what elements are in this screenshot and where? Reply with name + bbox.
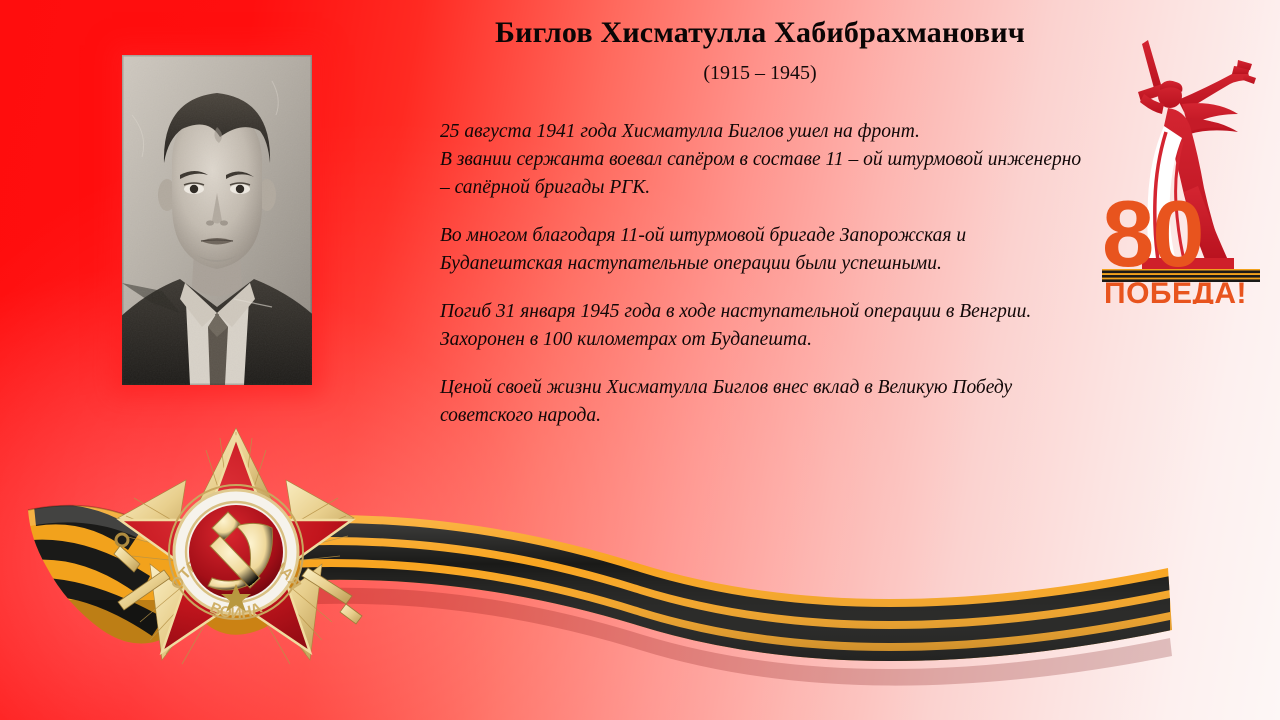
biography-paragraph-3: Погиб 31 января 1945 года в ходе наступа… bbox=[440, 298, 1088, 354]
portrait-illustration bbox=[122, 55, 312, 385]
page-title: Биглов Хисматулла Хабибрахманович bbox=[430, 16, 1090, 50]
life-years: (1915 – 1945) bbox=[430, 62, 1090, 85]
memorial-poster: Биглов Хисматулла Хабибрахманович (1915 … bbox=[0, 0, 1280, 720]
victory-80-logo: 80 ПОБЕДА! bbox=[1098, 22, 1274, 304]
order-medal-graphic: ОТЕЧЕСТВЕННАЯ ВОЙНА bbox=[100, 418, 372, 686]
biography-paragraph-4: Ценой своей жизни Хисматулла Биглов внес… bbox=[440, 374, 1088, 430]
biography-text: 25 августа 1941 года Хисматулла Биглов у… bbox=[440, 118, 1088, 430]
biography-paragraph-2: Во многом благодаря 11-ой штурмовой бриг… bbox=[440, 222, 1088, 278]
order-of-patriotic-war-medal: ОТЕЧЕСТВЕННАЯ ВОЙНА bbox=[100, 418, 372, 686]
victory-logo-graphic: 80 ПОБЕДА! bbox=[1098, 22, 1274, 304]
victory-caption: ПОБЕДА! bbox=[1104, 277, 1247, 304]
portrait-photo bbox=[122, 55, 312, 385]
biography-paragraph-1: 25 августа 1941 года Хисматулла Биглов у… bbox=[440, 118, 1088, 202]
